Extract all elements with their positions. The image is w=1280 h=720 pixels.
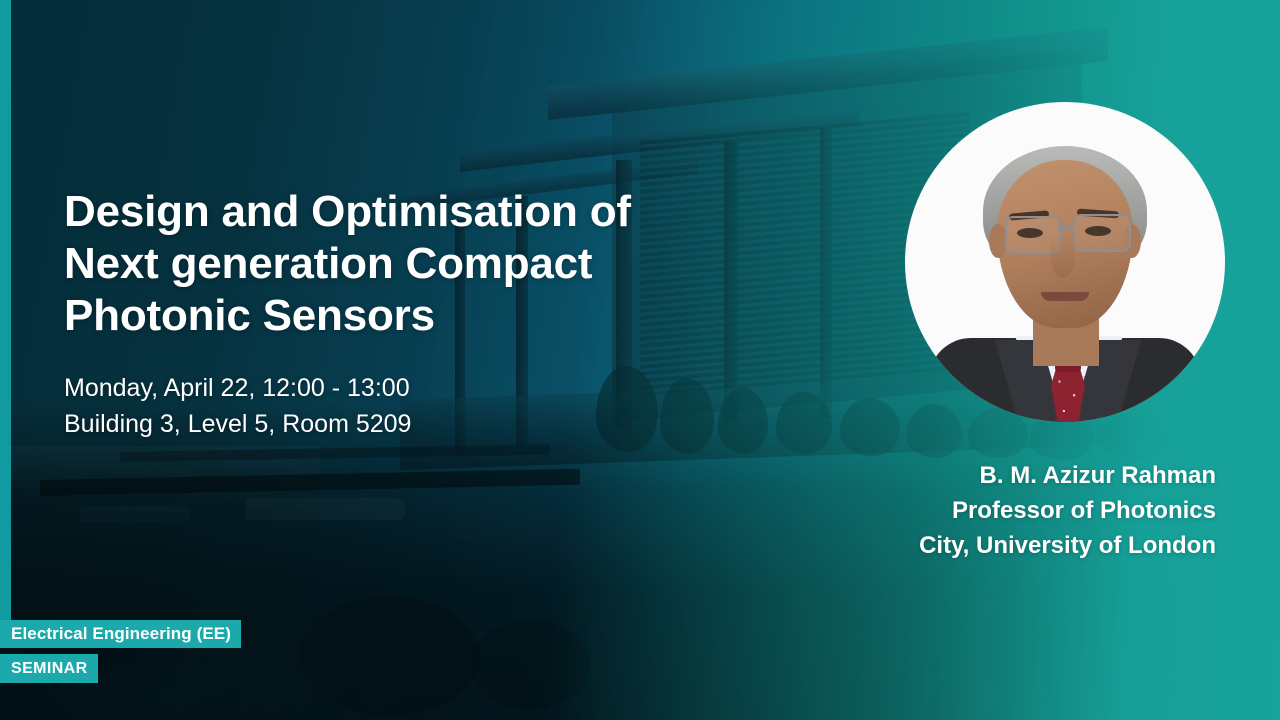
event-details: Monday, April 22, 12:00 - 13:00 Building…	[64, 370, 411, 442]
event-type-badge: SEMINAR	[0, 654, 98, 683]
department-badge: Electrical Engineering (EE)	[0, 620, 241, 648]
seminar-announcement-slide: Design and Optimisation of Next generati…	[0, 0, 1280, 720]
speaker-portrait-avatar	[905, 102, 1225, 422]
portrait-eyeglass-right	[1073, 214, 1131, 252]
event-location: Building 3, Level 5, Room 5209	[64, 406, 411, 442]
speaker-name: B. M. Azizur Rahman	[919, 458, 1216, 493]
speaker-role: Professor of Photonics	[919, 493, 1216, 528]
portrait-illustration	[905, 102, 1225, 422]
portrait-nose	[1051, 234, 1075, 278]
event-datetime: Monday, April 22, 12:00 - 13:00	[64, 370, 411, 406]
page-title: Design and Optimisation of Next generati…	[64, 186, 764, 342]
speaker-credits: B. M. Azizur Rahman Professor of Photoni…	[919, 458, 1216, 563]
left-accent-bar	[0, 0, 11, 626]
speaker-affiliation: City, University of London	[919, 528, 1216, 563]
portrait-eyeglass-bridge	[1057, 226, 1075, 229]
portrait-mouth	[1041, 292, 1089, 301]
